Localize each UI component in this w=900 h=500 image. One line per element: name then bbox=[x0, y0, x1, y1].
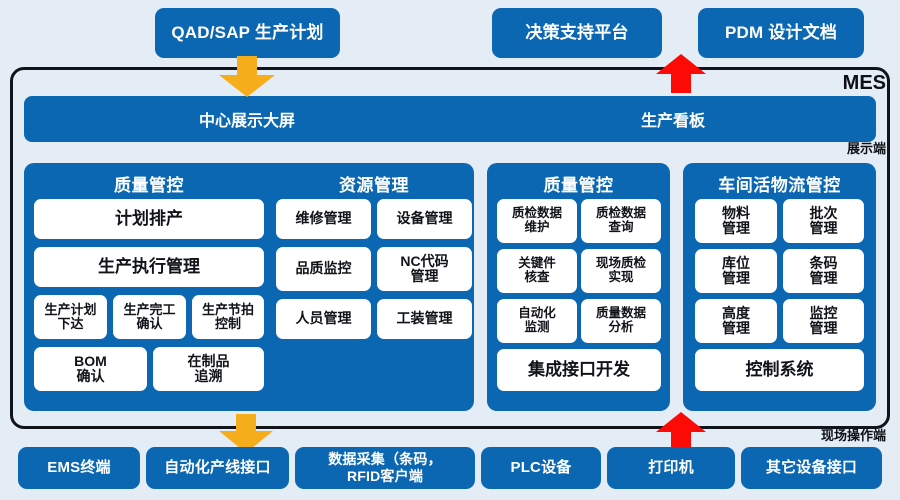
card-nc-code-management[interactable]: NC代码管理 bbox=[377, 247, 472, 291]
panel-quality-control-2: 质量管控 质检数据维护 质检数据查询 关键件核查 现场质检实现 自动化监测 质量… bbox=[487, 163, 670, 411]
device-label: EMS终端 bbox=[47, 460, 111, 477]
card-label: 现场质检实现 bbox=[596, 257, 646, 285]
panel-title-resource-management: 资源管理 bbox=[274, 171, 474, 196]
card-label: 控制系统 bbox=[746, 361, 814, 380]
card-label: 生产执行管理 bbox=[98, 258, 200, 277]
card-location-management[interactable]: 库位管理 bbox=[695, 249, 777, 293]
device-other-interface[interactable]: 其它设备接口 bbox=[741, 447, 882, 489]
external-system-label: QAD/SAP 生产计划 bbox=[171, 23, 323, 42]
card-production-completion-confirm[interactable]: 生产完工确认 bbox=[113, 295, 186, 339]
card-wip-traceability[interactable]: 在制品追溯 bbox=[153, 347, 264, 391]
panel-title-quality-control-2: 质量管控 bbox=[487, 171, 670, 196]
card-label: BOM确认 bbox=[74, 354, 107, 385]
external-system-label: 决策支持平台 bbox=[525, 23, 628, 42]
device-label: 打印机 bbox=[648, 460, 694, 477]
card-label: 条码管理 bbox=[810, 256, 838, 287]
card-production-execution-management[interactable]: 生产执行管理 bbox=[34, 247, 264, 287]
card-production-takt-control[interactable]: 生产节拍控制 bbox=[192, 295, 264, 339]
card-quality-monitoring[interactable]: 品质监控 bbox=[276, 247, 371, 291]
card-label: 品质监控 bbox=[296, 261, 352, 276]
card-label: 生产完工确认 bbox=[123, 303, 175, 332]
card-key-part-verification[interactable]: 关键件核查 bbox=[497, 249, 577, 293]
device-automation-line-interface[interactable]: 自动化产线接口 bbox=[146, 447, 289, 489]
banner-item-label: 生产看板 bbox=[641, 107, 705, 131]
banner-item-center-display[interactable]: 中心展示大屏 bbox=[24, 96, 470, 142]
card-label: 关键件核查 bbox=[518, 257, 556, 285]
card-bom-confirm[interactable]: BOM确认 bbox=[34, 347, 147, 391]
floor-side-label: 现场操作端 bbox=[821, 425, 886, 444]
display-banner: 中心展示大屏 生产看板 bbox=[24, 96, 876, 142]
card-equipment-management[interactable]: 设备管理 bbox=[377, 199, 472, 239]
card-label: 批次管理 bbox=[810, 206, 838, 237]
card-label: 质检数据查询 bbox=[596, 207, 646, 235]
card-production-plan-release[interactable]: 生产计划下达 bbox=[34, 295, 107, 339]
card-label: 物料管理 bbox=[722, 206, 750, 237]
device-label: 自动化产线接口 bbox=[164, 460, 270, 477]
card-label: 质检数据维护 bbox=[512, 207, 562, 235]
card-label: 质量数据分析 bbox=[596, 307, 646, 335]
card-label: 在制品追溯 bbox=[188, 354, 230, 385]
card-automation-monitoring[interactable]: 自动化监测 bbox=[497, 299, 577, 343]
device-label: PLC设备 bbox=[510, 460, 571, 477]
card-label: 人员管理 bbox=[296, 311, 352, 326]
card-quality-data-analysis[interactable]: 质量数据分析 bbox=[581, 299, 661, 343]
card-label: 生产节拍控制 bbox=[202, 303, 254, 332]
device-ems-terminal[interactable]: EMS终端 bbox=[18, 447, 140, 489]
card-label: 集成接口开发 bbox=[528, 361, 630, 380]
external-system-label: PDM 设计文档 bbox=[725, 23, 837, 42]
mes-architecture-diagram: QAD/SAP 生产计划 决策支持平台 PDM 设计文档 MES 展示端 现场操… bbox=[0, 0, 900, 500]
banner-item-label: 中心展示大屏 bbox=[199, 107, 295, 131]
device-label: 其它设备接口 bbox=[766, 460, 857, 477]
card-onsite-inspection-implementation[interactable]: 现场质检实现 bbox=[581, 249, 661, 293]
card-integration-interface-development[interactable]: 集成接口开发 bbox=[497, 349, 661, 391]
card-control-system[interactable]: 控制系统 bbox=[695, 349, 864, 391]
card-inspection-data-maintenance[interactable]: 质检数据维护 bbox=[497, 199, 577, 243]
card-label: 计划排产 bbox=[115, 210, 183, 229]
card-personnel-management[interactable]: 人员管理 bbox=[276, 299, 371, 339]
card-label: 监控管理 bbox=[810, 306, 838, 337]
device-label: 数据采集（条码，RFID客户端 bbox=[328, 451, 442, 484]
external-system-qad-sap[interactable]: QAD/SAP 生产计划 bbox=[155, 8, 340, 58]
card-label: 工装管理 bbox=[397, 311, 453, 326]
card-label: 高度管理 bbox=[722, 306, 750, 337]
card-label: 自动化监测 bbox=[518, 307, 556, 335]
banner-item-production-board[interactable]: 生产看板 bbox=[470, 96, 876, 142]
panel-workshop-logistics: 车间活物流管控 物料管理 批次管理 库位管理 条码管理 高度管理 监控管理 控制… bbox=[683, 163, 876, 411]
device-plc[interactable]: PLC设备 bbox=[481, 447, 601, 489]
card-label: 生产计划下达 bbox=[44, 303, 96, 332]
card-height-management[interactable]: 高度管理 bbox=[695, 299, 777, 343]
external-system-pdm[interactable]: PDM 设计文档 bbox=[698, 8, 864, 58]
card-label: 设备管理 bbox=[397, 211, 453, 226]
card-maintenance-management[interactable]: 维修管理 bbox=[276, 199, 371, 239]
card-inspection-data-query[interactable]: 质检数据查询 bbox=[581, 199, 661, 243]
device-printer[interactable]: 打印机 bbox=[607, 447, 735, 489]
card-tooling-management[interactable]: 工装管理 bbox=[377, 299, 472, 339]
panel-title-quality-control-1: 质量管控 bbox=[24, 171, 274, 196]
card-batch-management[interactable]: 批次管理 bbox=[783, 199, 864, 243]
card-label: 库位管理 bbox=[722, 256, 750, 287]
mes-frame-label: MES bbox=[843, 72, 886, 95]
card-label: NC代码管理 bbox=[400, 254, 448, 285]
panel-title-workshop-logistics: 车间活物流管控 bbox=[683, 171, 876, 196]
external-system-decision-platform[interactable]: 决策支持平台 bbox=[492, 8, 662, 58]
device-data-acquisition[interactable]: 数据采集（条码，RFID客户端 bbox=[295, 447, 475, 489]
card-barcode-management[interactable]: 条码管理 bbox=[783, 249, 864, 293]
card-label: 维修管理 bbox=[296, 211, 352, 226]
card-monitoring-management[interactable]: 监控管理 bbox=[783, 299, 864, 343]
panel-group-left: 质量管控 资源管理 计划排产 生产执行管理 生产计划下达 生产完工确认 生产节拍… bbox=[24, 163, 474, 411]
card-material-management[interactable]: 物料管理 bbox=[695, 199, 777, 243]
card-plan-scheduling[interactable]: 计划排产 bbox=[34, 199, 264, 239]
